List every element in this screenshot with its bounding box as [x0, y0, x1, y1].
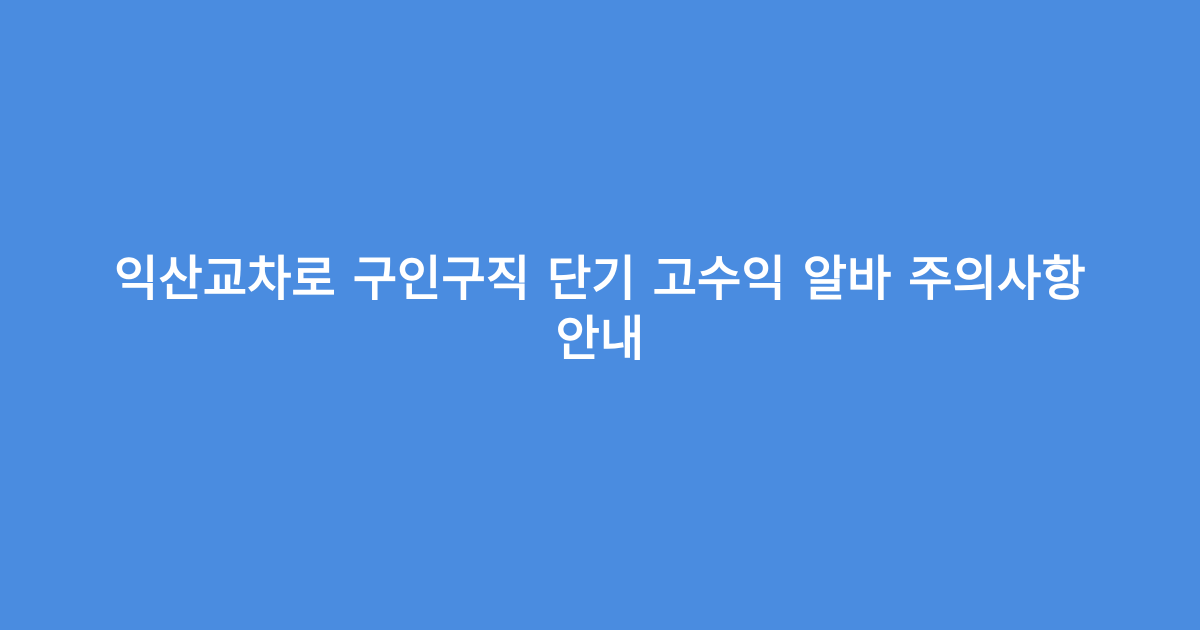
page-title: 익산교차로 구인구직 단기 고수익 알바 주의사항 안내	[80, 249, 1120, 369]
og-card: 익산교차로 구인구직 단기 고수익 알바 주의사항 안내	[0, 0, 1200, 630]
title-block: 익산교차로 구인구직 단기 고수익 알바 주의사항 안내	[70, 249, 1130, 369]
